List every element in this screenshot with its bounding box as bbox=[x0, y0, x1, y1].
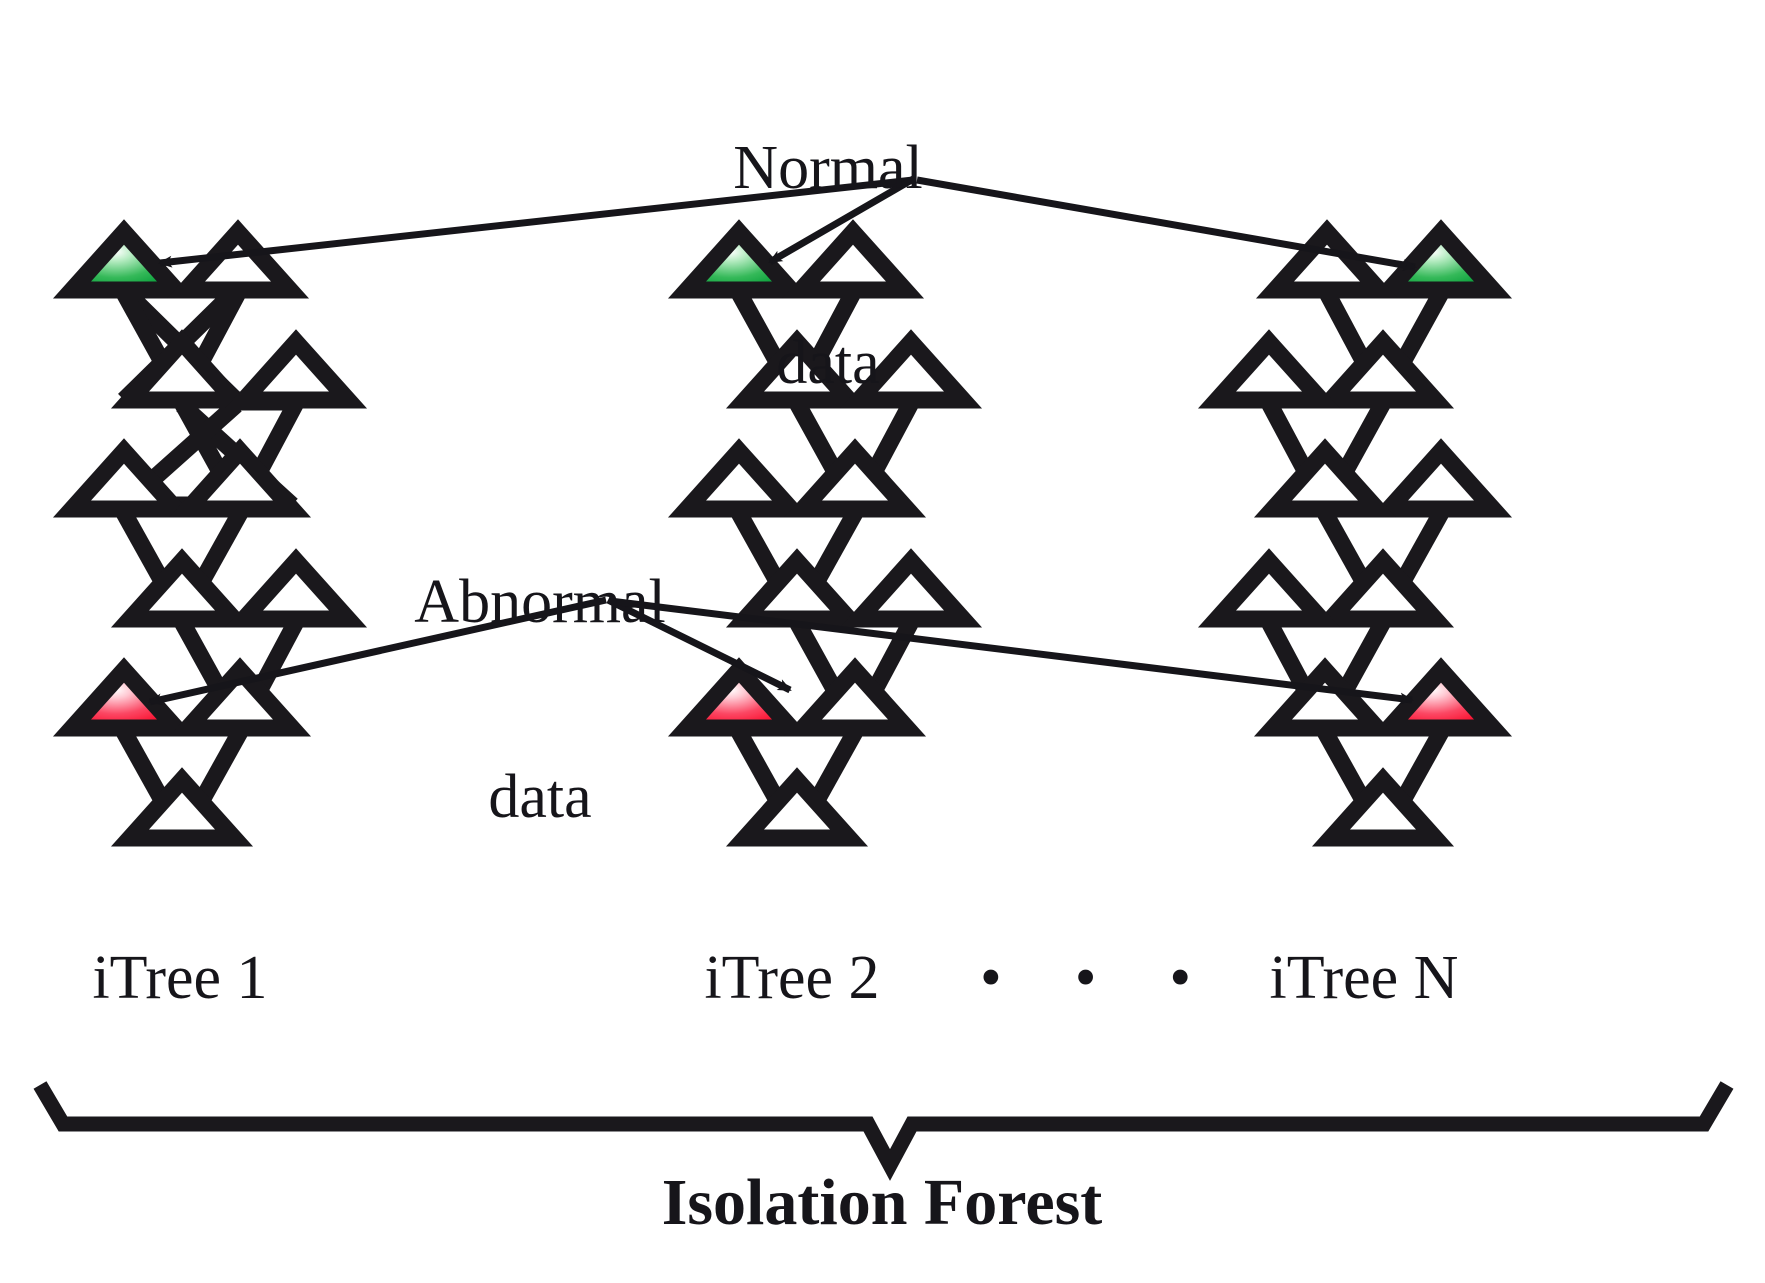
node[interactable] bbox=[1273, 670, 1377, 728]
node-normal-leaf[interactable] bbox=[1389, 232, 1493, 290]
isolation-forest-brace bbox=[40, 1085, 1727, 1165]
node[interactable] bbox=[1389, 451, 1493, 509]
node[interactable] bbox=[244, 342, 348, 400]
normal-data-line2: data bbox=[608, 331, 1048, 396]
node[interactable] bbox=[130, 342, 234, 400]
node[interactable] bbox=[1331, 342, 1435, 400]
node[interactable] bbox=[1331, 561, 1435, 619]
itree-1-label: iTree 1 bbox=[20, 946, 340, 1011]
node[interactable] bbox=[188, 451, 292, 509]
node[interactable] bbox=[130, 780, 234, 838]
itree-2-label: iTree 2 bbox=[632, 946, 952, 1011]
itree-n-nodes bbox=[1217, 232, 1493, 838]
abnormal-data-label: Abnormal data bbox=[300, 440, 780, 961]
isolation-forest-title: Isolation Forest bbox=[382, 1168, 1382, 1237]
normal-data-line1: Normal bbox=[608, 136, 1048, 201]
node[interactable] bbox=[130, 561, 234, 619]
figure-canvas: Normal data Abnormal data iTree 1 iTree … bbox=[0, 0, 1765, 1283]
node[interactable] bbox=[1217, 342, 1321, 400]
itree-n-group[interactable] bbox=[1217, 232, 1493, 838]
node[interactable] bbox=[1273, 451, 1377, 509]
abnormal-data-line1: Abnormal bbox=[300, 570, 780, 635]
node[interactable] bbox=[72, 451, 176, 509]
ellipsis-dots: • • • bbox=[980, 946, 1200, 1011]
node[interactable] bbox=[859, 561, 963, 619]
node[interactable] bbox=[1217, 561, 1321, 619]
itree-n-label: iTree N bbox=[1194, 946, 1534, 1011]
node[interactable] bbox=[1331, 780, 1435, 838]
node[interactable] bbox=[803, 670, 907, 728]
abnormal-data-line2: data bbox=[300, 765, 780, 830]
